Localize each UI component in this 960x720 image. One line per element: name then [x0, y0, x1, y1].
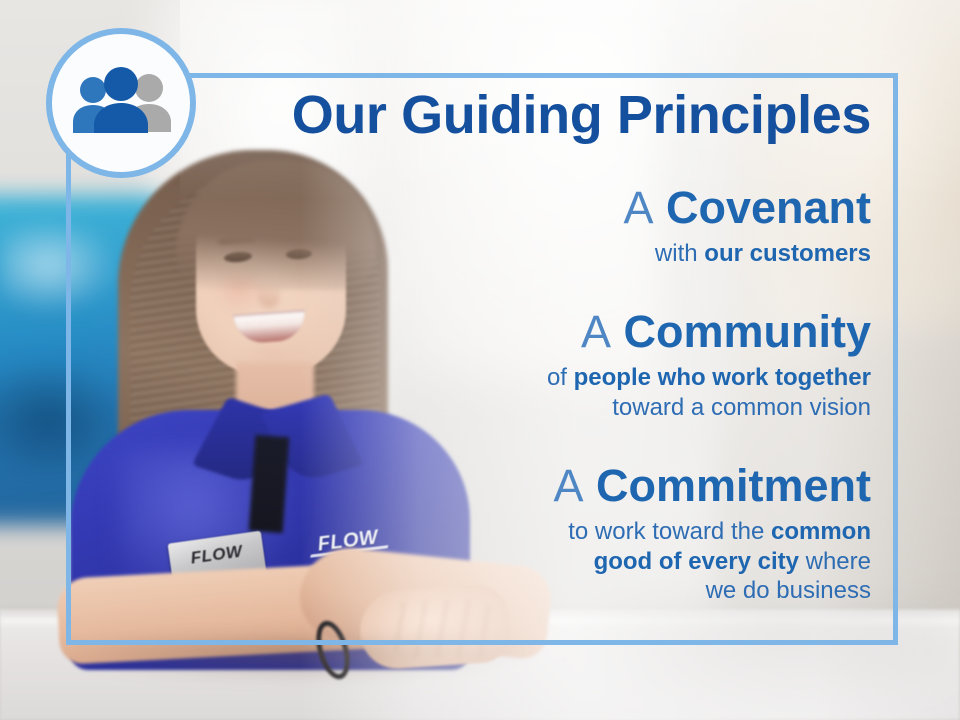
principle-community: A Community of people who work togethert… — [66, 309, 871, 422]
principle-commitment-article: A — [553, 460, 583, 511]
principle-community-article: A — [581, 306, 611, 357]
principle-community-heading: A Community — [66, 309, 871, 356]
principle-covenant-heading: A Covenant — [66, 185, 871, 232]
principle-covenant-word: Covenant — [666, 182, 871, 233]
page-title: Our Guiding Principles — [66, 88, 871, 142]
principle-commitment-heading: A Commitment — [66, 463, 871, 510]
guiding-principles-graphic: FLOW FLOW Our Guid — [0, 0, 960, 720]
principle-covenant: A Covenant with our customers — [66, 185, 871, 269]
principle-commitment-subtext: to work toward the commongood of every c… — [66, 517, 871, 606]
principle-covenant-subtext: with our customers — [66, 239, 871, 269]
principle-commitment: A Commitment to work toward the commongo… — [66, 463, 871, 606]
copy-block: Our Guiding Principles A Covenant with o… — [66, 73, 898, 645]
principle-community-word: Community — [624, 306, 872, 357]
principle-community-subtext: of people who work togethertoward a comm… — [66, 363, 871, 423]
principle-covenant-article: A — [623, 182, 653, 233]
principle-commitment-word: Commitment — [596, 460, 871, 511]
